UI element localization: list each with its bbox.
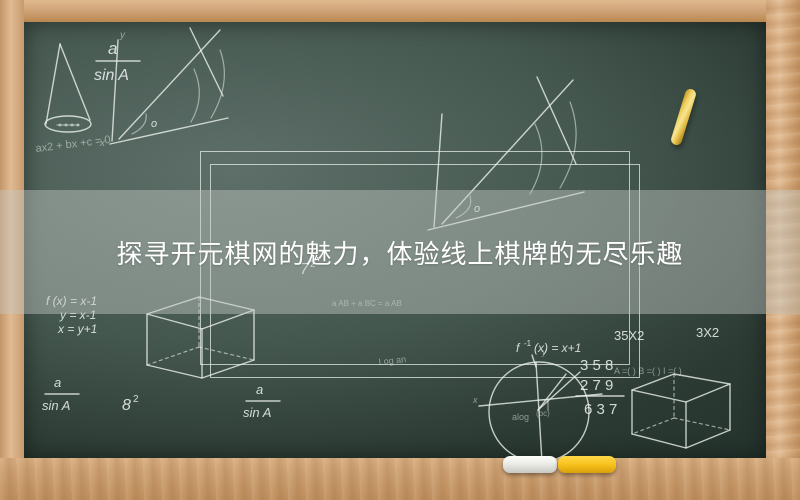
svg-text:x = y+1: x = y+1	[57, 322, 97, 336]
headline-band: 探寻开元棋网的魅力，体验线上棋牌的无尽乐趣	[0, 190, 800, 314]
angle-diagram-left: x y o	[99, 28, 228, 149]
svg-text:a: a	[256, 382, 263, 397]
svg-text:6 3 7: 6 3 7	[584, 401, 617, 418]
blackboard-banner: a sin A ax2 + bx +c = 0 x y o	[0, 0, 800, 500]
svg-text:a: a	[54, 375, 61, 390]
svg-text:x: x	[99, 138, 106, 149]
cone-drawing	[45, 44, 91, 132]
svg-text:(bc): (bc)	[536, 409, 550, 418]
svg-text:sin A: sin A	[94, 67, 129, 84]
svg-text:sin A: sin A	[42, 398, 70, 413]
sine-rule-bottom-left: a sin A	[42, 375, 79, 413]
frame-top-rail	[0, 0, 800, 22]
chalk-tray	[0, 458, 800, 500]
white-chalk-in-tray	[503, 456, 557, 473]
svg-text:2: 2	[133, 394, 139, 405]
svg-text:2 7 9: 2 7 9	[580, 377, 613, 394]
page-title: 探寻开元棋网的魅力，体验线上棋牌的无尽乐趣	[116, 234, 683, 271]
cube-wireframe-right	[632, 374, 730, 448]
mult-3x2: 3X2	[696, 325, 719, 340]
eight-squared: 8 2	[122, 394, 139, 414]
alog-bc: alog (bc)	[512, 409, 550, 422]
svg-text:o: o	[151, 118, 157, 130]
svg-text:y: y	[119, 30, 126, 41]
svg-text:alog: alog	[512, 412, 529, 422]
svg-text:sin A: sin A	[243, 405, 271, 420]
svg-text:8: 8	[122, 397, 131, 414]
svg-text:a: a	[108, 39, 117, 58]
sine-rule-mid: a sin A	[243, 382, 280, 420]
svg-text:x: x	[472, 395, 478, 405]
yellow-chalk-in-tray	[558, 456, 616, 473]
